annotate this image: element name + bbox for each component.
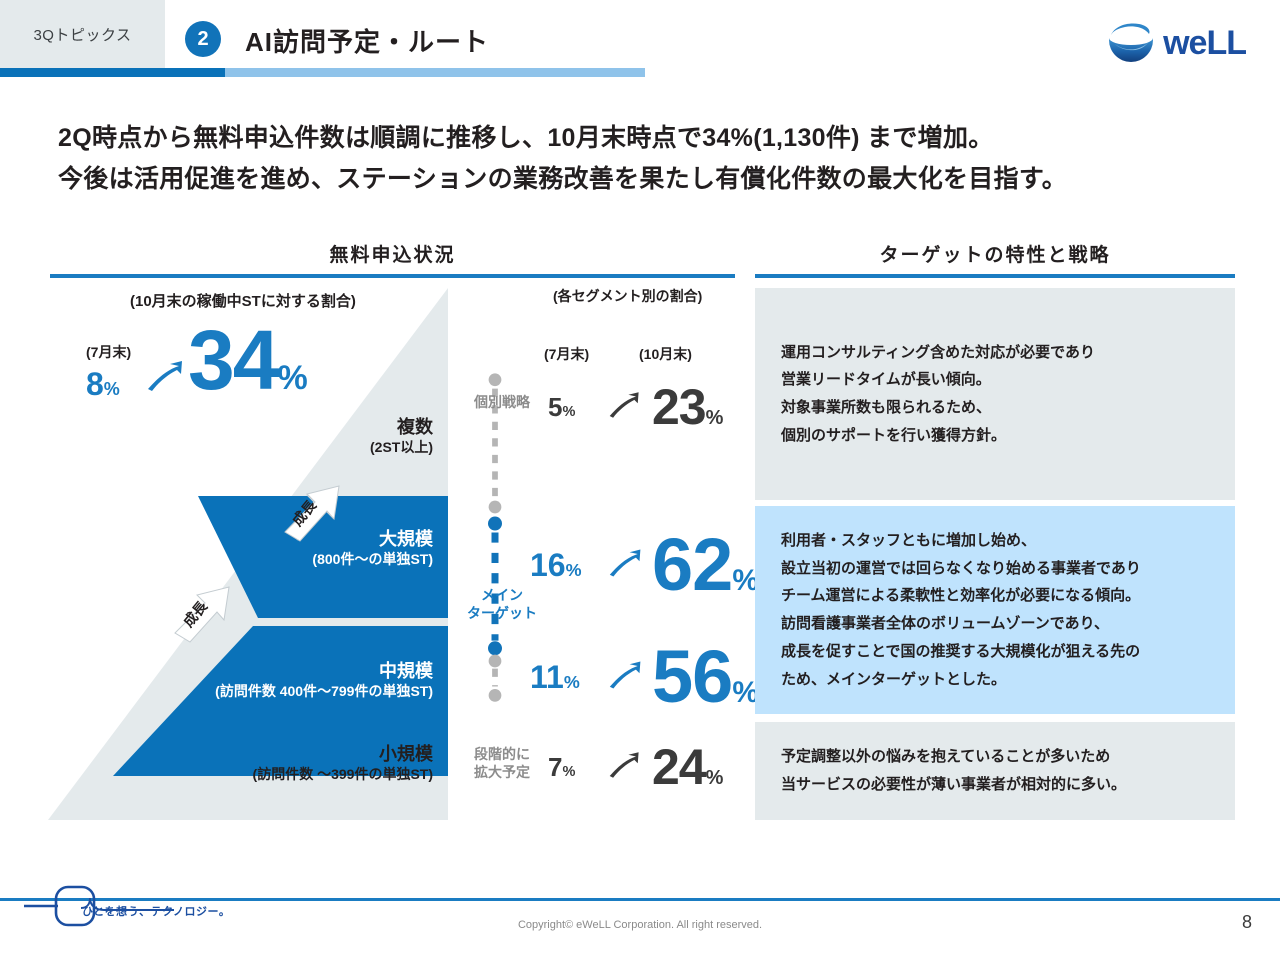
section-rule-left: [50, 274, 735, 278]
timeline-label-dankai: 段階的に 拡大予定: [452, 746, 552, 781]
stat-large-prev-number: 16: [530, 547, 566, 583]
stat-small-prev: 7%: [548, 752, 608, 783]
arrow-up-right-icon: [608, 548, 652, 583]
overall-stat-unit: %: [277, 359, 307, 397]
page-number: 8: [1242, 912, 1252, 933]
stat-kobetsu-prev: 5%: [548, 392, 608, 423]
stat-kobetsu-value: 23%: [652, 382, 723, 432]
strategy-block-small-body: 予定調整以外の悩みを抱えていることが多いため 当サービスの必要性が薄い事業者が相…: [781, 743, 1126, 799]
stat-small-unit: %: [706, 767, 724, 789]
strategy-main-line-5: 成長を促すことで国の推奨する大規模化が狙える先の: [781, 638, 1141, 666]
strategy-block-small: 予定調整以外の悩みを抱えていることが多いため 当サービスの必要性が薄い事業者が相…: [755, 722, 1235, 820]
segment-timeline: (各セグメント別の割合) 個別戦略 メイン ターゲット 段階的に 拡大予定 (7…: [440, 282, 740, 822]
pyramid-label-multi: 複数 (2ST以上): [248, 416, 433, 456]
pyramid-label-medium: 中規模 (訪問件数 400件〜799件の単独ST): [128, 660, 433, 700]
section-title-left: 無料申込状況: [50, 240, 735, 267]
arrow-up-right-icon: [608, 751, 652, 784]
strategy-small-line-1: 予定調整以外の悩みを抱えていることが多いため: [781, 743, 1126, 771]
strategy-block-main-body: 利用者・スタッフともに増加し始め、 設立当初の運営では回らなくなり始める事業者で…: [781, 527, 1141, 694]
footer-tagline: ひとを想う、テクノロジー。: [82, 903, 230, 919]
strategy-block-kobetsu-body: 運用コンサルティング含めた対応が必要であり 営業リードタイムが長い傾向。 対象事…: [781, 339, 1095, 450]
stat-medium-prev-unit: %: [564, 672, 580, 692]
strategy-small-line-2: 当サービスの必要性が薄い事業者が相対的に多い。: [781, 771, 1126, 799]
arrow-up-right-icon: [608, 660, 652, 695]
overall-stat-prev-number: 8: [86, 366, 104, 402]
slide: 3Qトピックス 2 AI訪問予定・ルート weLL 2Q時点から無料申込件数は順…: [0, 0, 1280, 960]
headline: 2Q時点から無料申込件数は順調に推移し、10月末時点で34%(1,130件) ま…: [58, 118, 1238, 201]
overall-stat-value: 34%: [188, 318, 308, 402]
stat-kobetsu-prev-number: 5: [548, 392, 562, 422]
header-section-number: 2: [185, 21, 221, 57]
stat-medium-number: 56: [652, 635, 732, 718]
strategy-main-line-2: 設立当初の運営では回らなくなり始める事業者であり: [781, 555, 1141, 583]
strategy-main-line-6: ため、メインターゲットとした。: [781, 666, 1141, 694]
footer-rule: [0, 898, 1280, 901]
ewell-globe-icon: [1105, 20, 1157, 66]
section-rule-right: [755, 274, 1235, 278]
arrow-up-right-icon: [608, 391, 652, 424]
stat-row-large: 16% 62%: [530, 528, 759, 602]
stat-kobetsu-prev-unit: %: [562, 404, 575, 420]
section-header-right: ターゲットの特性と戦略: [755, 240, 1235, 278]
stat-small-prev-number: 7: [548, 752, 562, 782]
header-rule-dark-left: [0, 68, 165, 77]
timeline-label-main-line2: ターゲット: [452, 605, 552, 623]
column-caption-current: (10月末): [639, 344, 692, 364]
timeline-caption: (各セグメント別の割合): [553, 286, 702, 306]
timeline-rail: [488, 282, 502, 802]
overall-stat-caption: (10月末の稼働中STに対する割合): [130, 290, 356, 311]
timeline-label-kobetsu: 個別戦略: [452, 394, 552, 412]
header-rule-dark-right: [165, 68, 225, 77]
arrow-up-right-glyph: [608, 548, 644, 578]
stat-row-small: 7% 24%: [548, 742, 723, 792]
strategy-kobetsu-line-2: 営業リードタイムが長い傾向。: [781, 366, 1095, 394]
ewell-logo: weLL: [1105, 20, 1246, 66]
timeline-label-dankai-line1: 段階的に: [452, 746, 552, 764]
pyramid-label-multi-main: 複数: [248, 416, 433, 439]
arrow-up-right-icon: [146, 360, 186, 400]
section-title-right: ターゲットの特性と戦略: [755, 240, 1235, 267]
stat-row-medium: 11% 56%: [530, 640, 759, 714]
strategy-kobetsu-line-4: 個別のサポートを行い獲得方針。: [781, 422, 1095, 450]
stat-small-value: 24%: [652, 742, 723, 792]
stat-small-number: 24: [652, 739, 706, 795]
stat-medium-prev-number: 11: [530, 659, 564, 695]
headline-line-2: 今後は活用促進を進め、ステーションの業務改善を果たし有償化件数の最大化を目指す。: [58, 159, 1238, 200]
stat-large-prev-unit: %: [566, 560, 582, 580]
pyramid-label-multi-sub: (2ST以上): [248, 439, 433, 457]
pyramid-label-medium-main: 中規模: [128, 660, 433, 683]
pyramid-label-large: 大規模 (800件〜の単独ST): [248, 528, 433, 568]
pyramid-label-large-main: 大規模: [248, 528, 433, 551]
strategy-block-kobetsu: 運用コンサルティング含めた対応が必要であり 営業リードタイムが長い傾向。 対象事…: [755, 288, 1235, 500]
strategy-main-line-1: 利用者・スタッフともに増加し始め、: [781, 527, 1141, 555]
stat-large-prev: 16%: [530, 547, 608, 584]
stat-kobetsu-number: 23: [652, 379, 706, 435]
pyramid-label-medium-sub: (訪問件数 400件〜799件の単独ST): [128, 683, 433, 701]
pyramid-label-small-main: 小規模: [128, 743, 433, 766]
arrow-up-right-glyph: [608, 391, 642, 419]
timeline-label-dankai-line2: 拡大予定: [452, 764, 552, 782]
arrow-up-right-glyph: [146, 360, 186, 392]
strategy-block-main: 利用者・スタッフともに増加し始め、 設立当初の運営では回らなくなり始める事業者で…: [755, 506, 1235, 714]
headline-line-1: 2Q時点から無料申込件数は順調に推移し、10月末時点で34%(1,130件) ま…: [58, 118, 1238, 159]
strategy-kobetsu-line-3: 対象事業所数も限られるため、: [781, 394, 1095, 422]
strategy-kobetsu-line-1: 運用コンサルティング含めた対応が必要であり: [781, 339, 1095, 367]
stat-kobetsu-unit: %: [706, 407, 724, 429]
stat-medium-prev: 11%: [530, 659, 608, 696]
stat-small-prev-unit: %: [562, 764, 575, 780]
header-tag-label: 3Qトピックス: [0, 0, 165, 68]
arrow-up-right-glyph: [608, 660, 644, 690]
pyramid-label-large-sub: (800件〜の単独ST): [248, 551, 433, 569]
overall-stat-prev-unit: %: [104, 379, 120, 399]
strategy-main-line-3: チーム運営による柔軟性と効率化が必要になる傾向。: [781, 582, 1141, 610]
overall-stat-number: 34: [188, 313, 277, 407]
stat-large-number: 62: [652, 523, 732, 606]
stat-large-value: 62%: [652, 528, 759, 602]
page-title: AI訪問予定・ルート: [245, 22, 489, 59]
section-header-left: 無料申込状況: [50, 240, 735, 278]
column-caption-prev: (7月末): [544, 344, 589, 364]
pyramid-label-small: 小規模 (訪問件数 〜399件の単独ST): [128, 743, 433, 783]
header-rule-light: [225, 68, 645, 77]
footer-copyright: Copyright© eWeLL Corporation. All right …: [0, 919, 1280, 931]
pyramid-label-small-sub: (訪問件数 〜399件の単独ST): [128, 766, 433, 784]
overall-stat-prev-value: 8%: [86, 366, 120, 403]
ewell-logo-text: weLL: [1163, 26, 1246, 60]
overall-stat-prev-caption: (7月末): [86, 342, 131, 362]
arrow-up-right-glyph: [608, 751, 642, 779]
stat-row-kobetsu: 5% 23%: [548, 382, 723, 432]
strategy-main-line-4: 訪問看護事業者全体のボリュームゾーンであり、: [781, 610, 1141, 638]
stat-medium-value: 56%: [652, 640, 759, 714]
